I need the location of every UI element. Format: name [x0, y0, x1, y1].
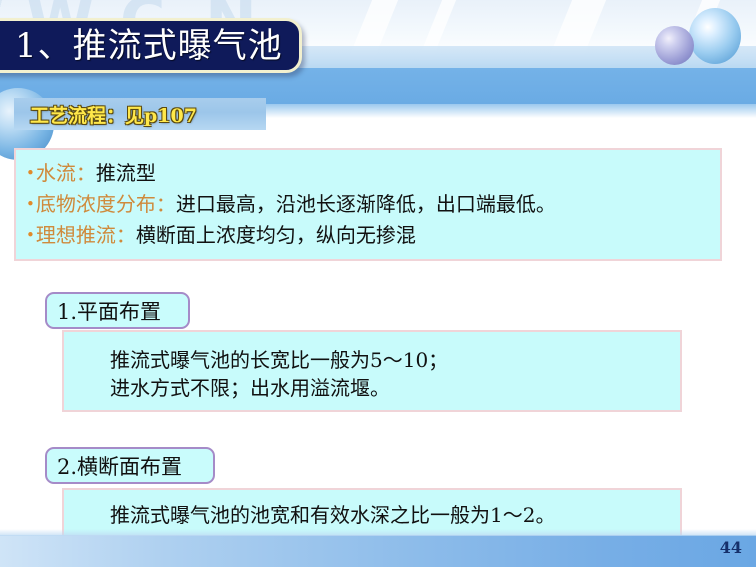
bullet-text: 进口最高，沿池长逐渐降低，出口端最低。 [176, 189, 556, 220]
bullet-text: 推流型 [96, 158, 156, 189]
body-line: 推流式曝气池的长宽比一般为5～10； [110, 346, 680, 374]
body-line: 推流式曝气池的池宽和有效水深之比一般为1～2。 [110, 501, 680, 529]
bullet-marker-icon: • [26, 158, 35, 189]
page-title: 1、推流式曝气池 [0, 29, 283, 63]
bullet-item: • 底物浓度分布： 进口最高，沿池长逐渐降低，出口端最低。 [26, 189, 710, 220]
body-line: 进水方式不限；出水用溢流堰。 [110, 374, 680, 402]
section-tag-cross-section-layout: 2.横断面布置 [45, 447, 215, 484]
bullets-panel: • 水流： 推流型 • 底物浓度分布： 进口最高，沿池长逐渐降低，出口端最低。 … [14, 148, 722, 261]
slide-subtitle-band: 工艺流程：见p107 [14, 98, 266, 130]
slide-title-plate: 1、推流式曝气池 [0, 18, 302, 73]
bullet-key: 水流： [36, 158, 96, 189]
slide-canvas: W C N 1、推流式曝气池 工艺流程：见p107 • 水流： 推流型 • 底物… [0, 0, 756, 567]
bullet-key: 底物浓度分布： [36, 189, 176, 220]
section-tag-label: 1.平面布置 [47, 296, 171, 326]
footer-fade [0, 529, 756, 536]
bullet-item: • 水流： 推流型 [26, 158, 710, 189]
decorative-sphere-large-icon [689, 8, 741, 64]
section-tag-plane-layout: 1.平面布置 [45, 292, 190, 329]
decorative-sphere-small-icon [655, 26, 694, 65]
slide-footer: 44 [0, 535, 756, 567]
bullet-marker-icon: • [26, 220, 35, 251]
bullet-item: • 理想推流： 横断面上浓度均匀，纵向无掺混 [26, 220, 710, 251]
bullet-text: 横断面上浓度均匀，纵向无掺混 [136, 220, 416, 251]
subtitle-text: 工艺流程：见p107 [14, 101, 197, 128]
bullet-key: 理想推流： [36, 220, 136, 251]
page-number: 44 [720, 538, 742, 557]
section-tag-label: 2.横断面布置 [47, 451, 192, 481]
section-body-plane-layout: 推流式曝气池的长宽比一般为5～10； 进水方式不限；出水用溢流堰。 [62, 330, 682, 412]
bullet-marker-icon: • [26, 189, 35, 220]
